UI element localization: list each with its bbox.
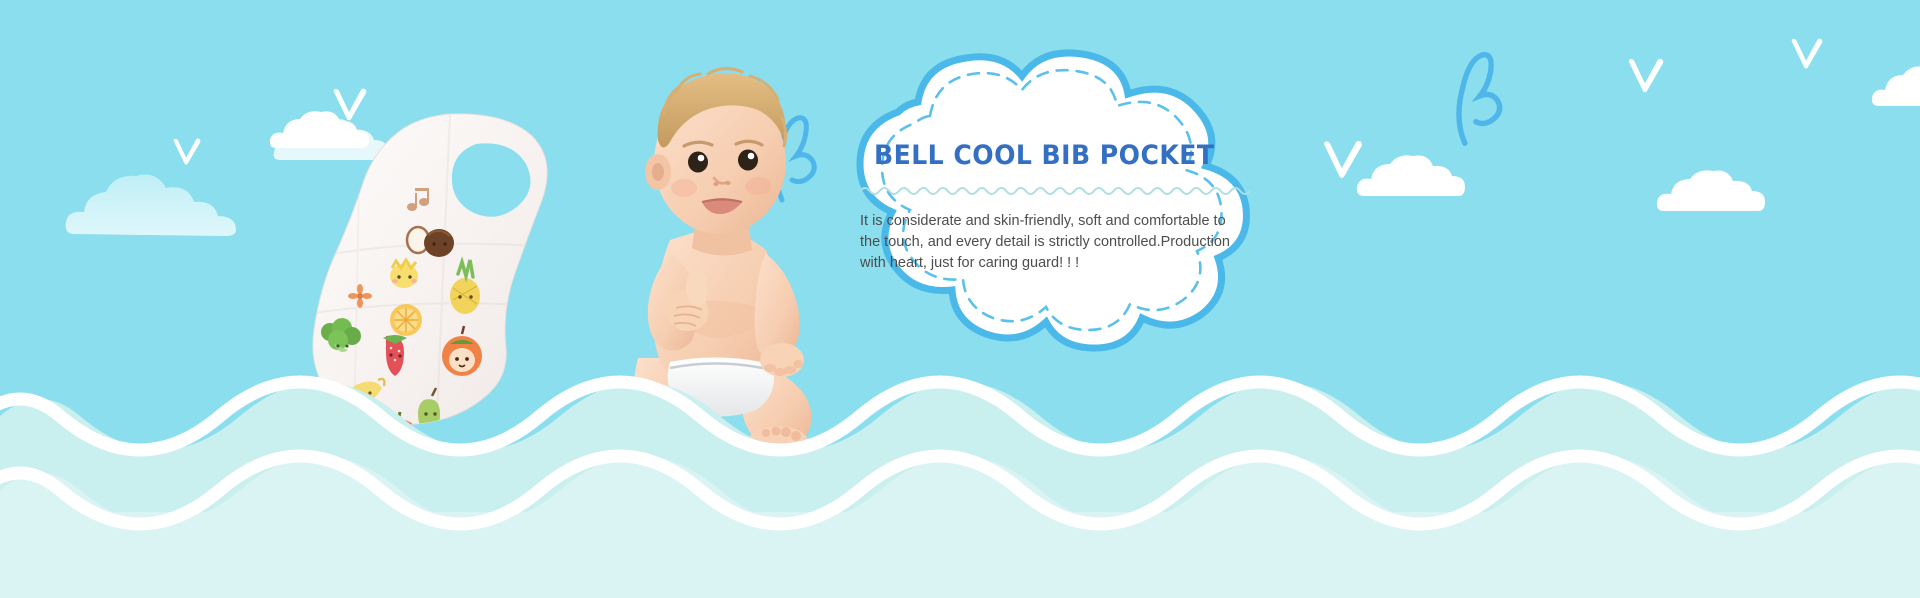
bird-v-icon bbox=[1627, 58, 1665, 94]
bird-v-icon bbox=[172, 138, 202, 166]
cloud-shape-icon bbox=[1655, 165, 1775, 215]
wave-line-icon bbox=[0, 436, 1920, 586]
bird-v-icon bbox=[1322, 140, 1364, 180]
cloud-shape-icon bbox=[60, 160, 260, 240]
promo-banner: BELL COOL BIB POCKET It is considerate a… bbox=[0, 0, 1920, 598]
description-text: It is considerate and skin-friendly, sof… bbox=[860, 211, 1245, 274]
cloud-shape-icon bbox=[1355, 150, 1475, 200]
cloud-shape-icon bbox=[1870, 62, 1920, 110]
wavy-divider-icon bbox=[860, 185, 1250, 195]
page-title: BELL COOL BIB POCKET bbox=[874, 140, 1233, 171]
bubble-text-content: BELL COOL BIB POCKET It is considerate a… bbox=[860, 140, 1260, 310]
wing-swirl-icon bbox=[1452, 48, 1508, 148]
bird-v-icon bbox=[1790, 38, 1824, 70]
